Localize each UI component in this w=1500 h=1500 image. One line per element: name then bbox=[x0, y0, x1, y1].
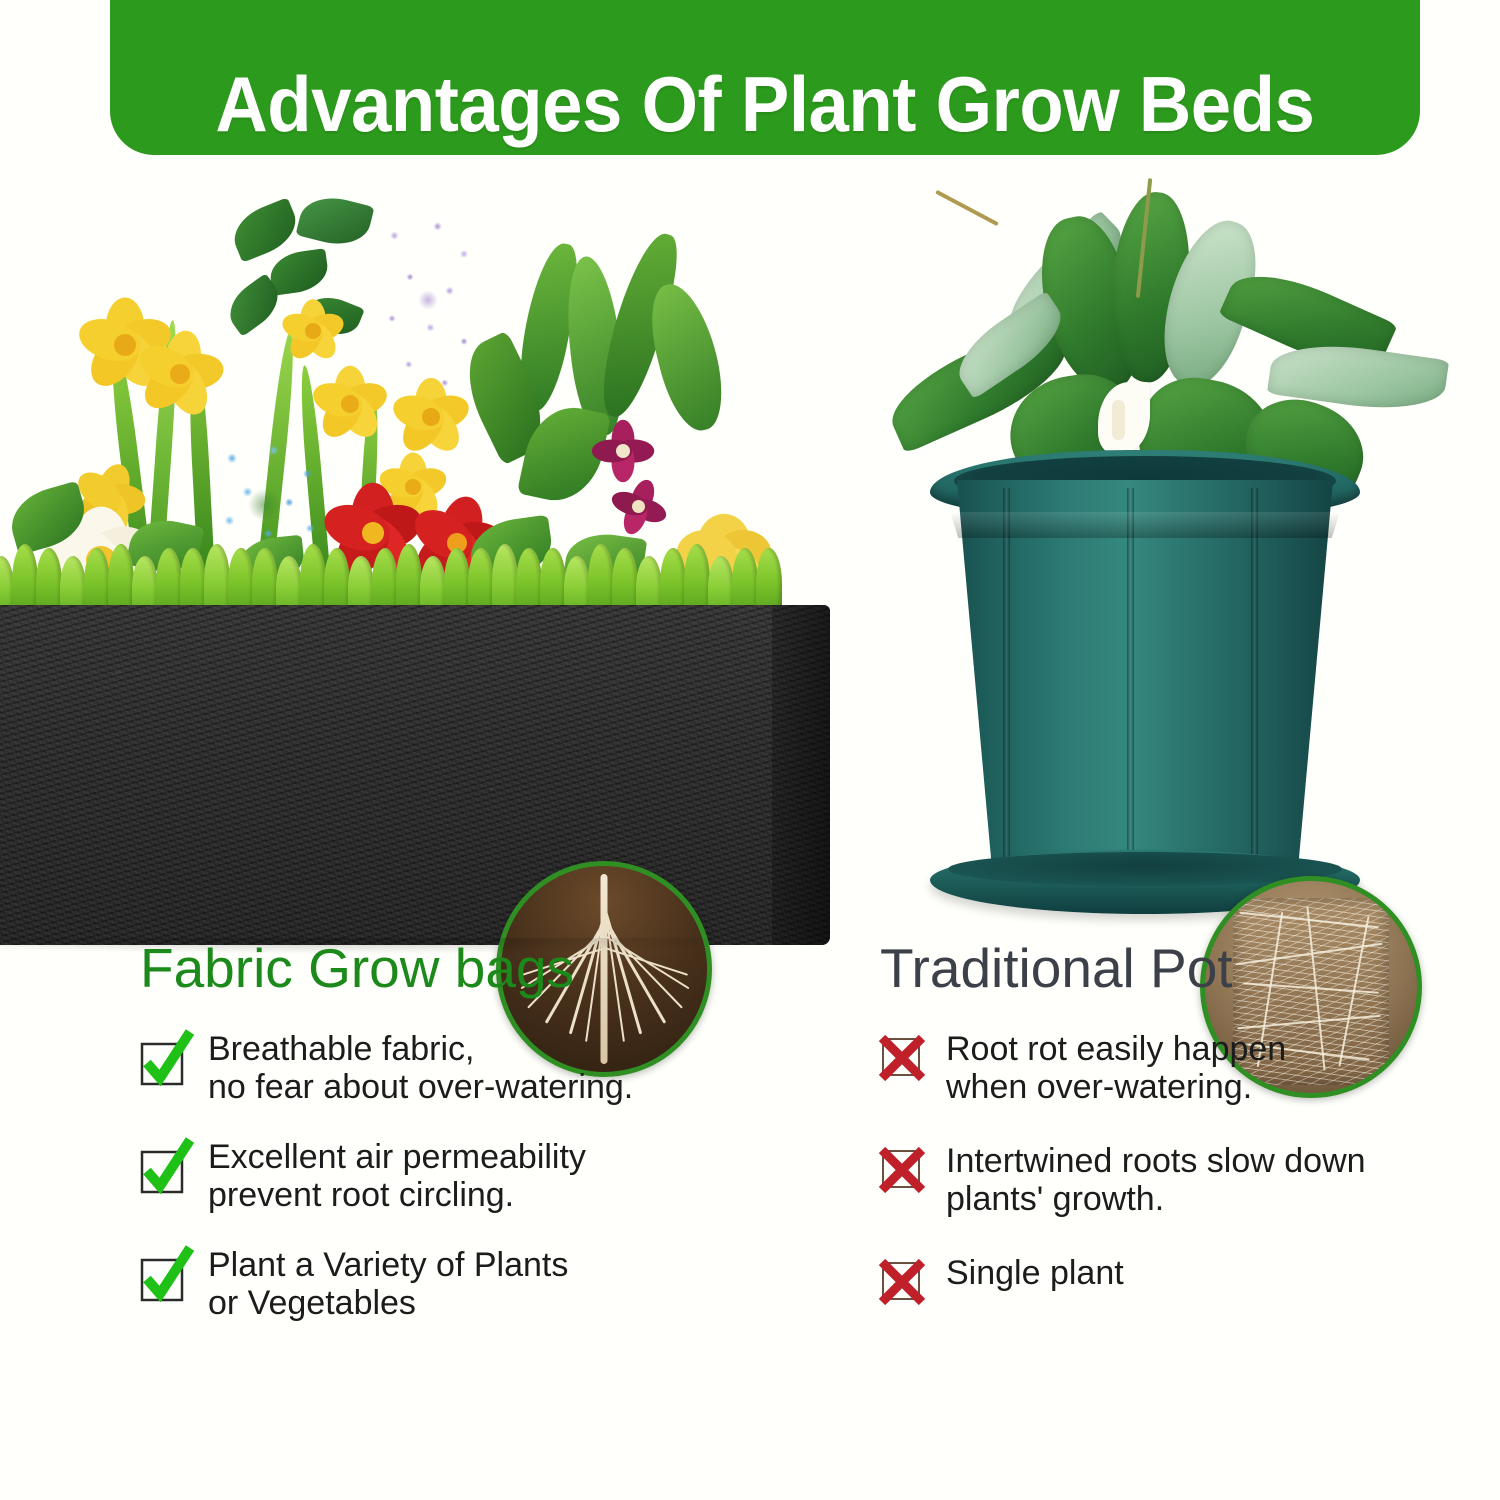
orchid-bloom bbox=[600, 428, 646, 474]
cross-icon bbox=[880, 1260, 924, 1304]
check-icon bbox=[140, 1142, 192, 1194]
list-item: Excellent air permeability prevent root … bbox=[140, 1136, 780, 1214]
grow-bag-side-panel bbox=[772, 605, 830, 945]
traditional-pot-title: Traditional Pot bbox=[880, 940, 1440, 998]
page-title: Advantages Of Plant Grow Beds bbox=[215, 65, 1314, 143]
list-item: Breathable fabric, no fear about over-wa… bbox=[140, 1028, 780, 1106]
list-item: Intertwined roots slow down plants' grow… bbox=[880, 1140, 1440, 1218]
traditional-pot-drawback-list: Root rot easily happen when over-waterin… bbox=[880, 1028, 1440, 1304]
mixed-flower-bed bbox=[0, 190, 850, 590]
list-item-label: Root rot easily happen when over-waterin… bbox=[946, 1028, 1286, 1106]
fabric-grow-bags-title: Fabric Grow bags bbox=[140, 940, 780, 998]
comparison-section: Fabric Grow bags Breathable fabric, no f… bbox=[0, 940, 1500, 1360]
list-item-label: Plant a Variety of Plants or Vegetables bbox=[208, 1244, 568, 1322]
list-item: Single plant bbox=[880, 1252, 1440, 1304]
list-item: Root rot easily happen when over-waterin… bbox=[880, 1028, 1440, 1106]
illustration-stage bbox=[0, 150, 1500, 950]
check-icon bbox=[140, 1034, 192, 1086]
traditional-pot-column: Traditional Pot Root rot easily happen w… bbox=[880, 940, 1440, 1338]
header-banner: Advantages Of Plant Grow Beds bbox=[110, 0, 1420, 155]
fabric-grow-bags-column: Fabric Grow bags Breathable fabric, no f… bbox=[140, 940, 780, 1352]
list-item-label: Breathable fabric, no fear about over-wa… bbox=[208, 1028, 633, 1106]
pot-band bbox=[942, 512, 1348, 538]
traditional-pot-illustration bbox=[830, 150, 1470, 940]
cross-icon bbox=[880, 1148, 924, 1192]
list-item-label: Excellent air permeability prevent root … bbox=[208, 1136, 586, 1214]
list-item-label: Single plant bbox=[946, 1252, 1124, 1292]
list-item: Plant a Variety of Plants or Vegetables bbox=[140, 1244, 780, 1322]
fabric-grow-bags-benefit-list: Breathable fabric, no fear about over-wa… bbox=[140, 1028, 780, 1322]
plastic-pot-body bbox=[945, 480, 1345, 880]
check-icon bbox=[140, 1250, 192, 1302]
cross-icon bbox=[880, 1036, 924, 1080]
list-item-label: Intertwined roots slow down plants' grow… bbox=[946, 1140, 1366, 1218]
peace-lily-spadix bbox=[1112, 400, 1125, 440]
fabric-grow-bed-illustration bbox=[0, 150, 850, 940]
fabric-grow-bag bbox=[0, 605, 830, 945]
